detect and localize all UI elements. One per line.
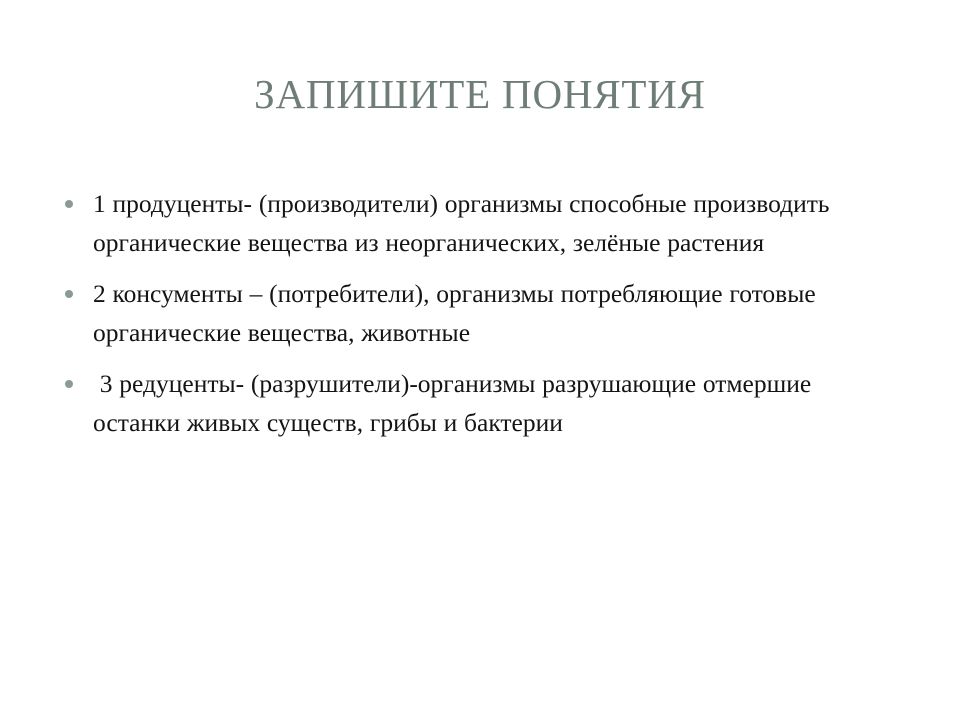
list-item-text: 2 консументы – (потребители), организмы …	[93, 274, 890, 352]
list-item-text: 1 продуценты- (производители) организмы …	[93, 184, 890, 262]
list-item: 1 продуценты- (производители) организмы …	[60, 184, 890, 262]
presentation-slide: ЗАПИШИТЕ ПОНЯТИЯ 1 продуценты- (производ…	[0, 0, 960, 720]
slide-title: ЗАПИШИТЕ ПОНЯТИЯ	[60, 70, 900, 118]
list-item: 3 редуценты- (разрушители)-организмы раз…	[60, 364, 890, 442]
bullet-list: 1 продуценты- (производители) организмы …	[60, 184, 890, 442]
list-item-text: 3 редуценты- (разрушители)-организмы раз…	[93, 364, 890, 442]
bullet-dot-icon	[65, 200, 73, 208]
bullet-dot-icon	[65, 380, 73, 388]
bullet-dot-icon	[65, 290, 73, 298]
list-item: 2 консументы – (потребители), организмы …	[60, 274, 890, 352]
